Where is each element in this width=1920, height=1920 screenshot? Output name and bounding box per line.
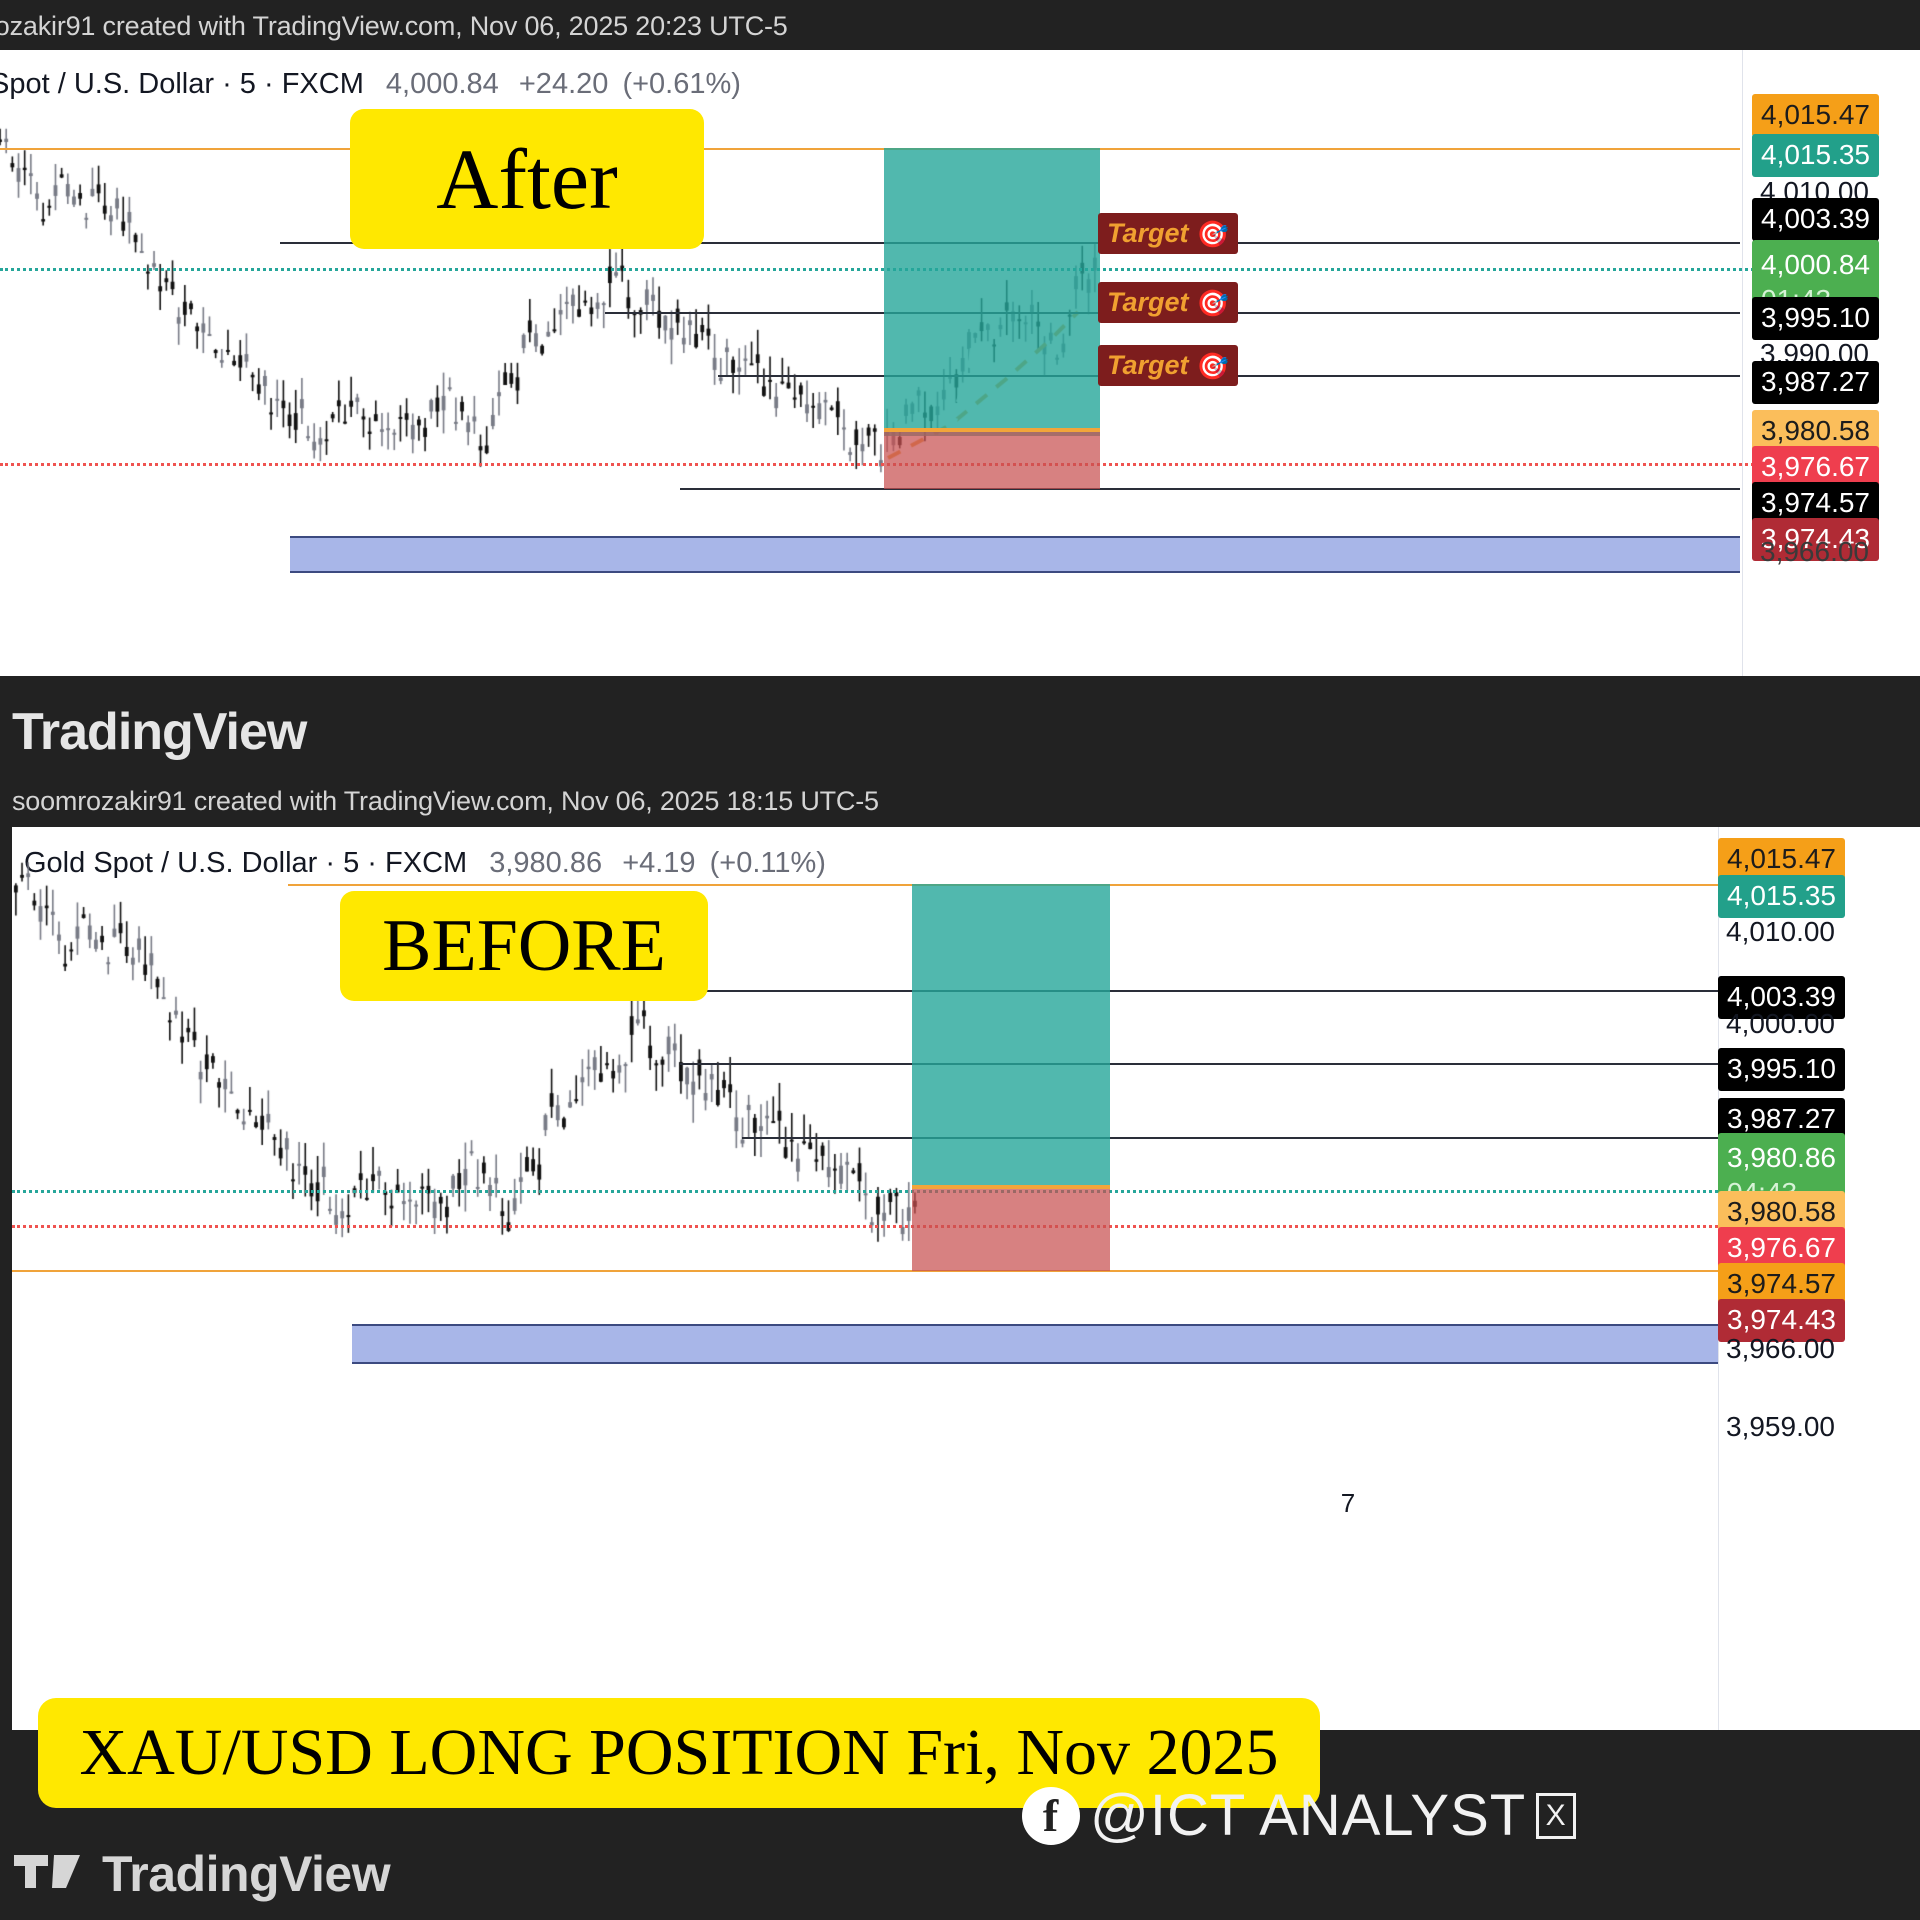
top-axis-separator — [1742, 50, 1743, 772]
target-badge-3[interactable]: Target 🎯 — [1098, 213, 1238, 254]
bottom-candles — [12, 827, 1712, 1730]
bot-level-3995-line — [680, 1063, 1718, 1065]
bottom-credit-text: soomrozakir91 created with TradingView.c… — [12, 786, 879, 817]
target-badge-1[interactable]: Target 🎯 — [1098, 345, 1238, 386]
price-tag-teal: 4,015.35 — [1752, 134, 1879, 177]
top-stop-zone — [884, 432, 1100, 489]
target-emoji-icon: 🎯 — [1197, 353, 1229, 379]
before-callout: BEFORE — [340, 891, 708, 1001]
price-tag-current-value: 3,980.86 — [1727, 1140, 1836, 1175]
position-banner-text: XAU/USD LONG POSITION Fri, Nov 2025 — [79, 1715, 1278, 1791]
price-tag-black: 3,995.10 — [1718, 1048, 1845, 1091]
bot-level-current-dotted — [12, 1190, 1718, 1193]
top-profit-zone — [884, 148, 1100, 436]
bot-level-stop-dotted — [12, 1225, 1718, 1228]
top-credit-text: rozakir91 created with TradingView.com, … — [0, 11, 788, 42]
bot-stop-zone — [912, 1189, 1110, 1271]
bottom-time-axis[interactable] — [12, 1477, 1718, 1537]
price-tick: 3,966.00 — [1726, 1335, 1835, 1363]
top-level-current-dotted — [0, 268, 1760, 271]
social-watermark: f @ICT ANALYST X — [1022, 1782, 1576, 1849]
tradingview-footer-text: TradingView — [102, 1845, 390, 1903]
price-tag-orange: 4,015.47 — [1752, 94, 1879, 137]
bot-level-3974-line — [12, 1270, 1718, 1272]
time-tick: 7 — [1341, 1488, 1355, 1519]
bot-level-3987-line — [742, 1137, 1718, 1139]
watermark-handle: @ICT ANALYST — [1090, 1782, 1526, 1849]
screenshot-root: rozakir91 created with TradingView.com, … — [0, 0, 1920, 1920]
price-tag-black: 4,003.39 — [1752, 198, 1879, 241]
bot-demand-band — [352, 1324, 1718, 1364]
price-tag-black: 3,995.10 — [1752, 297, 1879, 340]
tradingview-footer-logo: TradingView — [14, 1845, 390, 1903]
bottom-brand-bar: TradingView soomrozakir91 created with T… — [0, 676, 1920, 836]
top-level-stop-dotted — [0, 463, 1760, 466]
top-level-3974-line — [680, 488, 1740, 490]
target-badge-label: Target — [1107, 218, 1189, 249]
price-tag-current-value: 4,000.84 — [1761, 247, 1870, 282]
price-tick: 3,959.00 — [1726, 1413, 1835, 1441]
bottom-chart[interactable]: Gold Spot / U.S. Dollar · 5 · FXCM 3,980… — [12, 827, 1920, 1730]
top-demand-band — [290, 536, 1740, 573]
bot-profit-zone — [912, 884, 1110, 1189]
facebook-icon: f — [1022, 1787, 1080, 1845]
target-emoji-icon: 🎯 — [1197, 221, 1229, 247]
top-level-tp-line — [0, 148, 1740, 150]
price-tick: 3,966.00 — [1760, 538, 1869, 566]
price-tag-teal: 4,015.35 — [1718, 875, 1845, 918]
price-tag-black: 3,987.27 — [1752, 361, 1879, 404]
target-emoji-icon: 🎯 — [1197, 290, 1229, 316]
target-badge-2[interactable]: Target 🎯 — [1098, 282, 1238, 323]
after-callout-text: After — [436, 129, 617, 229]
after-callout: After — [350, 109, 704, 249]
price-tick: 4,010.00 — [1726, 918, 1835, 946]
x-twitter-icon: X — [1536, 1793, 1576, 1839]
tradingview-wordmark: TradingView — [12, 702, 306, 762]
top-chart[interactable]: Spot / U.S. Dollar · 5 · FXCM 4,000.84 +… — [0, 50, 1920, 772]
target-badge-label: Target — [1107, 287, 1189, 318]
tradingview-glyph-icon — [14, 1849, 86, 1900]
before-callout-text: BEFORE — [382, 904, 666, 989]
top-credit-bar: rozakir91 created with TradingView.com, … — [0, 0, 1920, 50]
price-tick: 4,000.00 — [1726, 1010, 1835, 1038]
target-badge-label: Target — [1107, 350, 1189, 381]
